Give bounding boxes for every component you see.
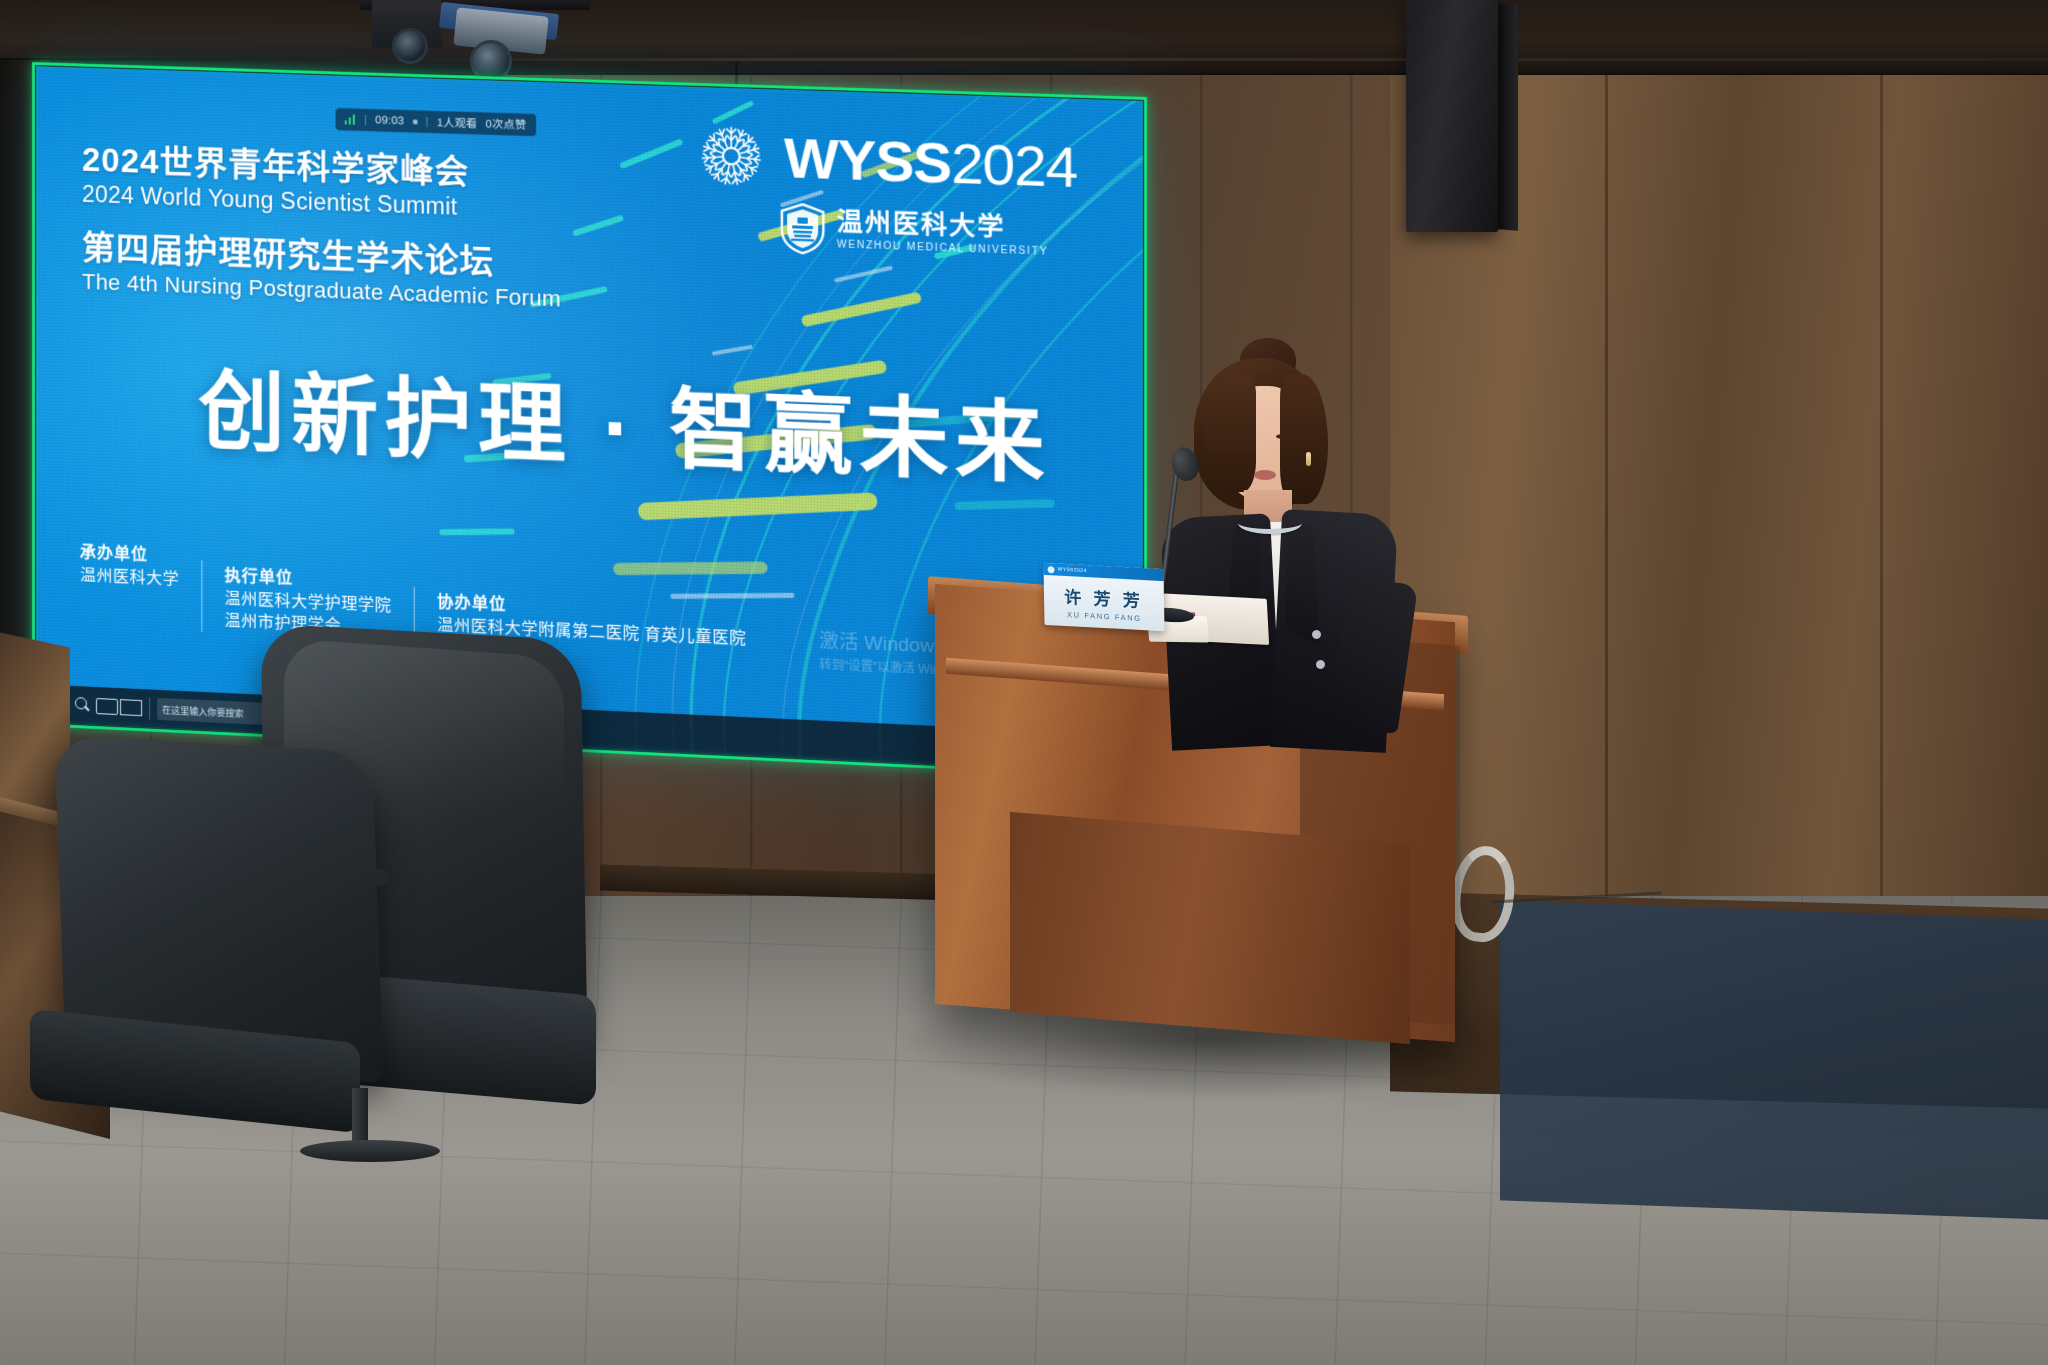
nameplate-logo-icon (1048, 566, 1055, 573)
speaker-person (1130, 330, 1430, 750)
earring (1306, 452, 1311, 466)
hair-left (1204, 374, 1256, 492)
wall-speaker-icon (1406, 0, 1498, 232)
jacket-button (1312, 630, 1321, 639)
speaker-nameplate: WYSS2024 许 芳 芳 XU FANG FANG (1043, 563, 1164, 631)
ceiling-seam (0, 58, 2048, 61)
jacket-button (1316, 660, 1325, 669)
wall-seam (1605, 60, 1608, 920)
mouth (1254, 470, 1276, 480)
eye-left (1234, 434, 1249, 439)
nameplate-badge-text: WYSS2024 (1058, 567, 1087, 575)
necklace (1238, 512, 1302, 534)
eye-right (1276, 434, 1291, 439)
nameplate-name-cn: 许 芳 芳 (1044, 582, 1164, 613)
podium-base (1010, 812, 1410, 1044)
right-lower-panel (1500, 900, 2048, 1219)
chair-base (300, 1140, 440, 1162)
projector-lens-icon (392, 28, 428, 64)
wall-seam (1880, 60, 1883, 920)
wall-speaker-side (1498, 3, 1518, 231)
hair-right (1280, 374, 1328, 504)
conference-room-scene: | 09:03 | 1人观看 0次点赞 (0, 0, 2048, 1365)
ceiling (0, 0, 2048, 75)
